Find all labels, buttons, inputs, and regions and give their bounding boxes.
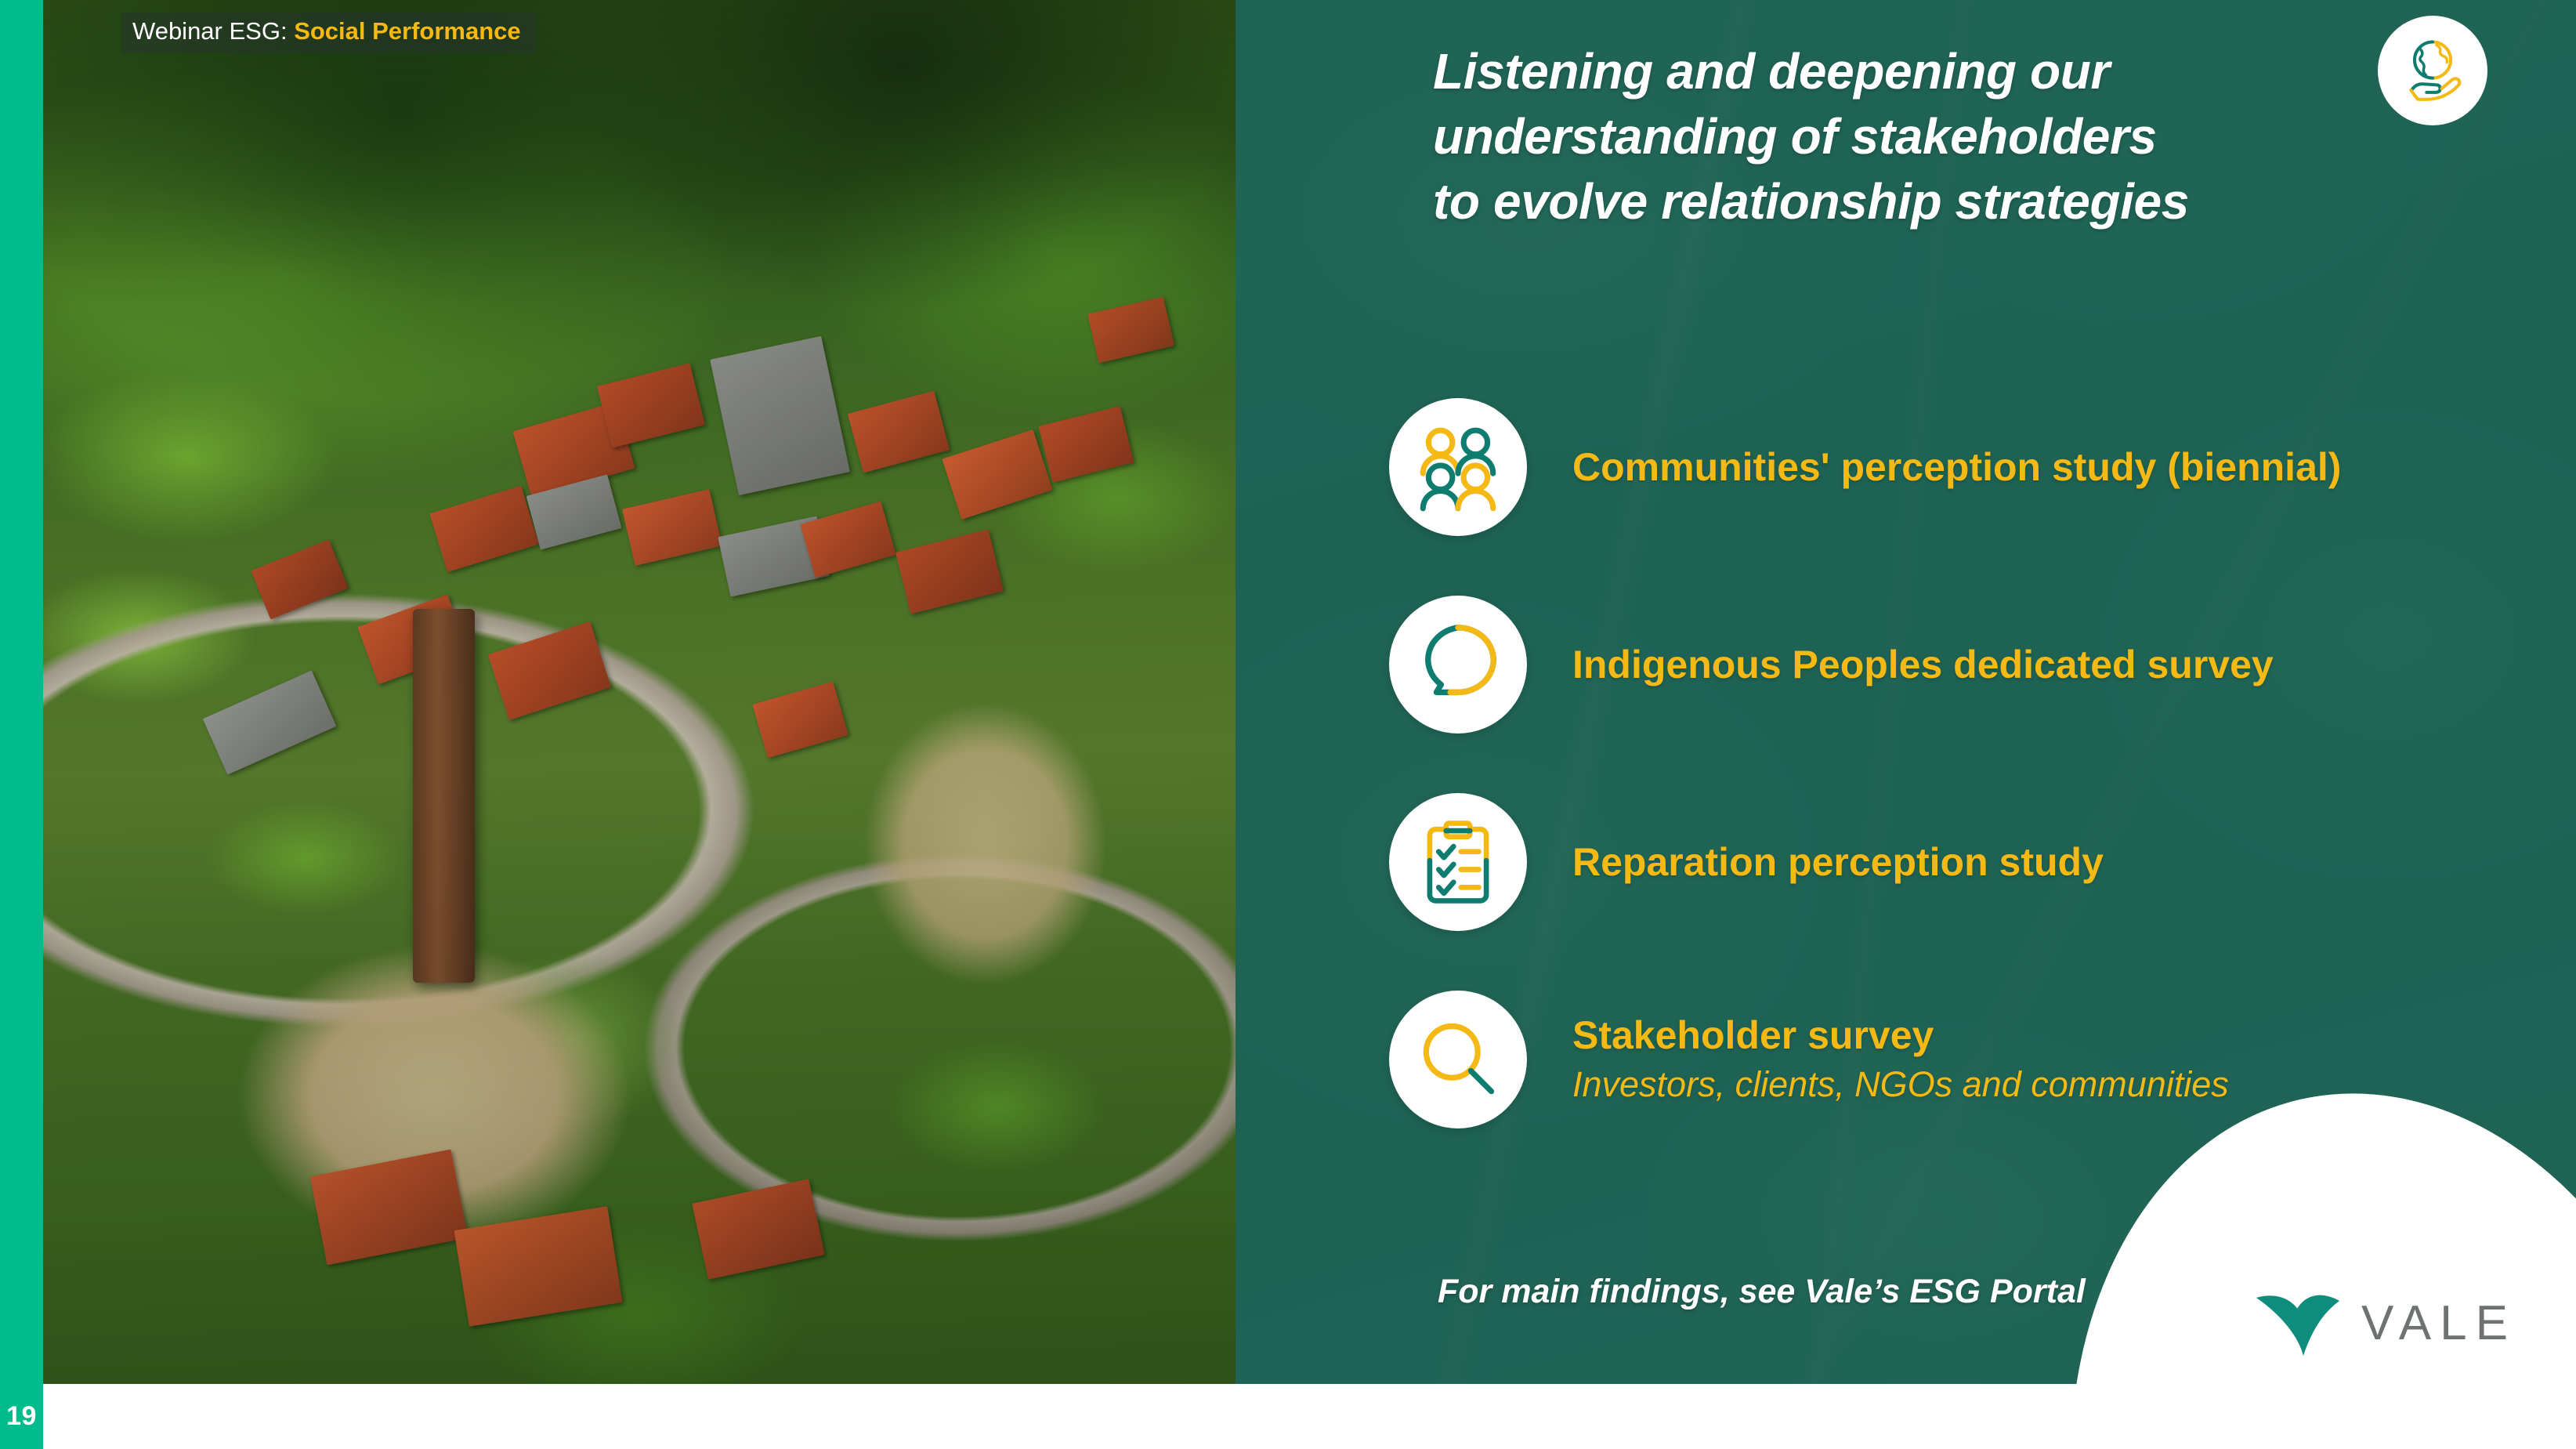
list-item-title: Stakeholder survey: [1572, 1013, 2549, 1057]
list-item-text: Stakeholder survey Investors, clients, N…: [1572, 1013, 2549, 1105]
clipboard-checklist-icon-badge: [1389, 793, 1527, 931]
list-item-title: Communities' perception study (biennial): [1572, 445, 2549, 489]
title-line-1: Listening and deepening our: [1433, 39, 2373, 104]
content-panel: Listening and deepening our understandin…: [1236, 0, 2576, 1384]
list-item-text: Indigenous Peoples dedicated survey: [1572, 643, 2549, 686]
list-item-text: Reparation perception study: [1572, 840, 2549, 884]
aerial-village-photo: Webinar ESG: Social Performance: [43, 0, 1236, 1384]
vale-logo: VALE: [2250, 1281, 2516, 1365]
clipboard-checklist-icon: [1413, 817, 1503, 907]
speech-bubble-icon-badge: [1389, 596, 1527, 734]
header-prefix: Webinar ESG:: [132, 17, 294, 45]
list-item-title: Reparation perception study: [1572, 840, 2549, 884]
footer-note: For main findings, see Vale’s ESG Portal: [1438, 1273, 2086, 1311]
title-line-2: understanding of stakeholders: [1433, 104, 2373, 169]
header-emphasis: Social Performance: [294, 17, 520, 45]
vale-v-logo-icon: [2250, 1281, 2350, 1365]
webinar-header-label: Webinar ESG: Social Performance: [121, 13, 535, 53]
magnifier-icon: [1413, 1014, 1503, 1105]
list-item-text: Communities' perception study (biennial): [1572, 445, 2549, 489]
list-item[interactable]: Indigenous Peoples dedicated survey: [1389, 566, 2549, 763]
hand-holding-globe-icon: [2395, 33, 2470, 108]
people-group-icon: [1410, 419, 1506, 515]
people-group-icon-badge: [1389, 398, 1527, 536]
list-item[interactable]: Reparation perception study: [1389, 763, 2549, 961]
bottom-strip: [0, 1384, 2576, 1449]
photo-layers: [43, 0, 1236, 1384]
bullet-list: Communities' perception study (biennial): [1389, 368, 2549, 1158]
title-line-3: to evolve relationship strategies: [1433, 169, 2373, 234]
left-accent-rail: [0, 0, 43, 1449]
list-item[interactable]: Communities' perception study (biennial): [1389, 368, 2549, 566]
speech-bubble-icon: [1412, 618, 1504, 711]
page-number: 19: [0, 1384, 43, 1449]
magnifier-icon-badge: [1389, 991, 1527, 1128]
page-title: Listening and deepening our understandin…: [1433, 39, 2373, 235]
vale-wordmark: VALE: [2361, 1295, 2516, 1351]
list-item-title: Indigenous Peoples dedicated survey: [1572, 643, 2549, 686]
hand-holding-globe-badge: [2378, 16, 2487, 125]
slide: Webinar ESG: Social Performance Listenin…: [0, 0, 2576, 1449]
